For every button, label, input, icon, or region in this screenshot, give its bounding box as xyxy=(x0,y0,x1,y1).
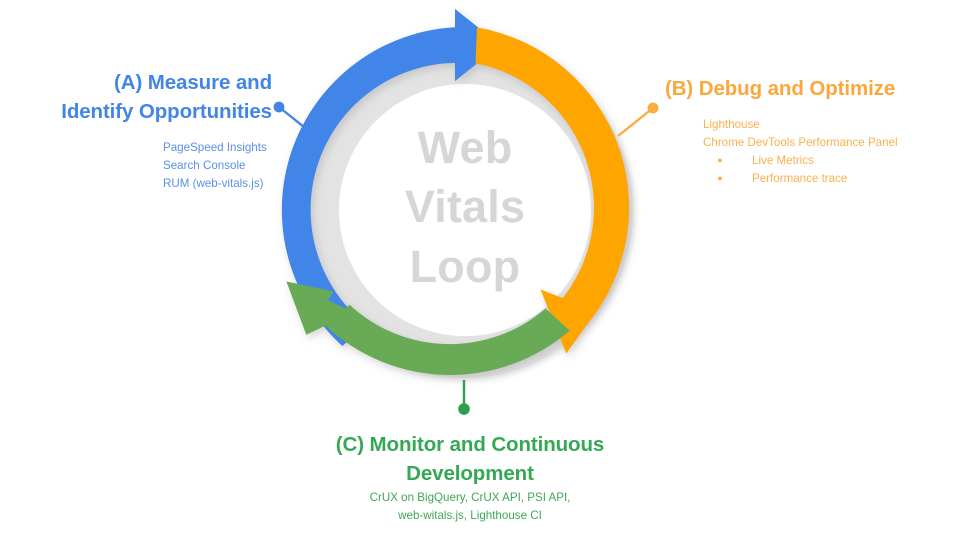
section-a-item: PageSpeed Insights xyxy=(163,139,266,157)
section-a-item: RUM (web-vitals.js) xyxy=(163,175,266,193)
bullet-dot-icon: ● xyxy=(703,154,737,168)
section-a-item: Search Console xyxy=(163,157,266,175)
connector-monitor xyxy=(458,380,470,415)
section-a-title: (A) Measure and Identify Opportunities xyxy=(10,68,272,126)
section-b-title-text: (B) Debug and Optimize xyxy=(665,74,955,103)
section-c-items: CrUX on BigQuery, CrUX API, PSI API, web… xyxy=(310,489,630,525)
connector-dot-monitor xyxy=(458,403,470,415)
section-b-bullet: Live Metrics xyxy=(737,152,953,170)
connector-dot-measure xyxy=(274,102,285,113)
section-a-title-line2: Identify Opportunities xyxy=(10,97,272,126)
bullet-dot-icon: ● xyxy=(703,172,737,186)
section-b-title: (B) Debug and Optimize xyxy=(665,74,955,103)
section-c-title: (C) Monitor and Continuous Development xyxy=(300,430,640,488)
section-c-title-line2: Development xyxy=(300,459,640,488)
section-b-bullet-row: ● Performance trace xyxy=(703,170,953,188)
section-c-item: CrUX on BigQuery, CrUX API, PSI API, xyxy=(310,489,630,507)
diagram-canvas: Web Vitals Loop (A) Measure and Identify… xyxy=(0,0,960,540)
section-a-title-line1: (A) Measure and xyxy=(10,68,272,97)
section-b-items: Lighthouse Chrome DevTools Performance P… xyxy=(703,116,953,188)
section-c-title-line1: (C) Monitor and Continuous xyxy=(300,430,640,459)
section-b-bullet-row: ● Live Metrics xyxy=(703,152,953,170)
connector-dot-debug xyxy=(648,103,659,114)
section-b-bullet: Performance trace xyxy=(737,170,953,188)
section-b-item: Chrome DevTools Performance Panel xyxy=(703,134,953,152)
section-c-item: web-witals.js, Lighthouse CI xyxy=(310,507,630,525)
section-a-items: PageSpeed Insights Search Console RUM (w… xyxy=(10,139,266,193)
connector-debug xyxy=(618,103,658,136)
section-b-item: Lighthouse xyxy=(703,116,953,134)
